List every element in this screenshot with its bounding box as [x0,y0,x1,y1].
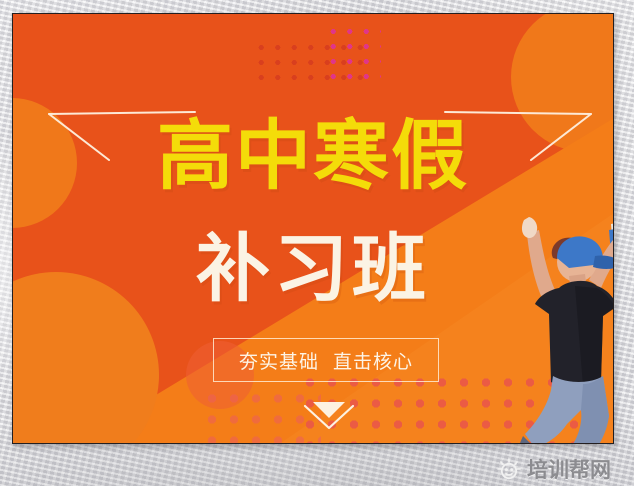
headline-primary: 高中寒假 [13,118,613,194]
watermark-text: 培训帮网 [527,454,611,484]
dot-pattern-top-pink [325,24,381,80]
screenshot-canvas: 高中寒假 补习班 夯实基础 直击核心 [0,0,634,486]
down-chevron-icon [301,396,357,430]
watermark: 培训帮网 [497,455,611,483]
poster-artwork: 高中寒假 补习班 夯实基础 直击核心 [13,14,613,443]
jumping-student-illustration [497,210,613,443]
subtitle-box: 夯实基础 直击核心 [213,338,439,382]
smiley-rays-logo-icon [497,458,521,480]
poster-frame: 高中寒假 补习班 夯实基础 直击核心 [12,13,614,444]
subtitle-text: 夯实基础 直击核心 [239,347,413,374]
